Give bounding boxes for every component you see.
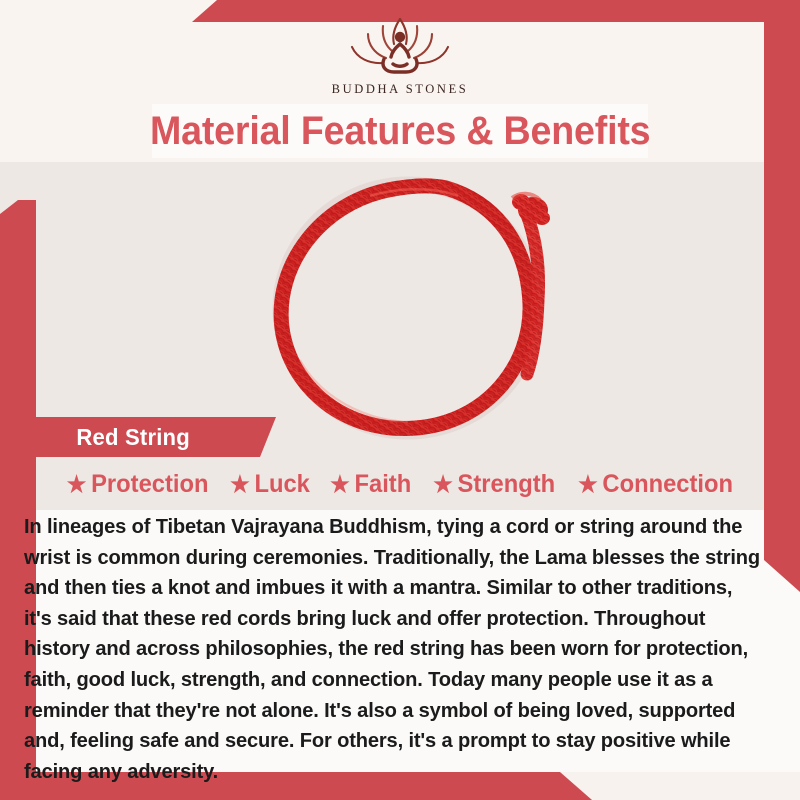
brand-logo: BUDDHA STONES [0, 14, 800, 97]
poster-canvas: BUDDHA STONES Material Features & Benefi… [0, 0, 800, 800]
red-braided-string-bracelet [250, 160, 580, 445]
lotus-meditation-icon [337, 14, 463, 80]
star-icon: ★ [578, 473, 598, 496]
benefit-label: Faith [355, 470, 412, 499]
benefit-faith: ★ Faith [330, 470, 411, 499]
benefits-row: ★ Protection ★ Luck ★ Faith ★ Strength ★… [0, 466, 800, 502]
benefit-strength: ★ Strength [433, 470, 555, 499]
cord-knot [512, 194, 550, 225]
star-icon: ★ [433, 473, 453, 496]
product-name-label: Red String [76, 424, 190, 451]
description-paragraph: In lineages of Tibetan Vajrayana Buddhis… [24, 512, 765, 787]
star-icon: ★ [67, 473, 87, 496]
benefit-protection: ★ Protection [67, 470, 209, 499]
benefit-label: Connection [602, 470, 733, 499]
brand-wordmark: BUDDHA STONES [332, 82, 469, 97]
benefit-connection: ★ Connection [578, 470, 733, 499]
benefit-label: Strength [457, 470, 555, 499]
benefit-label: Luck [255, 470, 310, 499]
product-name-tag: Red String [32, 417, 276, 457]
title-banner: Material Features & Benefits [152, 104, 648, 158]
star-icon: ★ [330, 473, 350, 496]
star-icon: ★ [230, 473, 250, 496]
benefit-luck: ★ Luck [230, 470, 310, 499]
page-title: Material Features & Benefits [150, 109, 650, 154]
benefit-label: Protection [91, 470, 208, 499]
